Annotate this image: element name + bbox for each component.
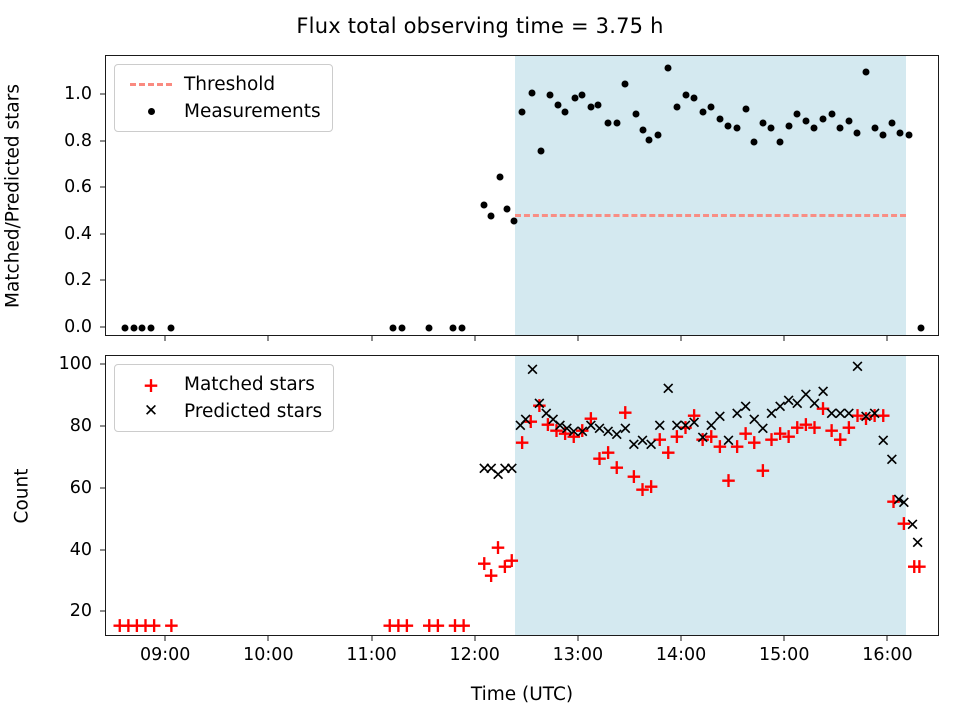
data-point-predicted-star: ✕ [816,385,830,402]
data-point-measurement [888,120,895,127]
data-point-predicted-star: ✕ [505,462,519,479]
data-point-predicted-star: ✕ [653,419,667,436]
data-point-predicted-star: ✕ [850,360,864,377]
legend-label-predicted-stars: Predicted stars [184,401,322,422]
data-point-measurement [802,118,809,125]
x-axis-tick-label: 12:00 [449,645,499,665]
data-point-measurement [682,92,689,99]
data-point-measurement [488,213,495,220]
y-axis-tick-mark [100,140,105,141]
x-axis-tick-label: 16:00 [862,645,912,665]
legend-label-matched-stars: Matched stars [184,374,315,395]
data-point-predicted-star: ✕ [911,536,925,553]
data-point-measurement [519,108,526,115]
data-point-predicted-star: ✕ [897,496,911,513]
x-axis-tick-label: 13:00 [553,645,603,665]
data-point-predicted-star: ✕ [876,434,890,451]
plus-icon: + [124,375,178,395]
legend-item-predicted-stars[interactable]: ✕ Predicted stars [124,398,322,425]
y-axis-tick-mark [100,487,105,488]
data-point-measurement [794,111,801,118]
y-axis-tick-label: 40 [0,540,92,560]
data-point-matched-star: + [146,615,163,635]
data-point-measurement [880,131,887,138]
data-point-measurement [130,324,137,331]
x-axis-tick-label: 10:00 [243,645,293,665]
legend-item-matched-stars[interactable]: + Matched stars [124,371,322,398]
data-point-measurement [665,64,672,71]
x-axis-label: Time (UTC) [471,684,573,705]
data-point-matched-star: + [455,615,472,635]
x-axis-tick-mark [887,636,888,641]
legend-item-measurements[interactable]: Measurements [124,98,321,125]
y-axis-tick-mark [100,326,105,327]
data-point-measurement [562,108,569,115]
data-point-measurement [837,124,844,131]
x-axis-tick-label: 14:00 [656,645,706,665]
data-point-measurement [699,108,706,115]
data-point-measurement [820,115,827,122]
data-point-predicted-star: ✕ [885,452,899,469]
x-axis-tick-mark [268,336,269,341]
x-axis-tick-mark [784,636,785,641]
x-axis-tick-mark [681,636,682,641]
x-axis-tick-mark [165,336,166,341]
data-point-measurement [426,324,433,331]
data-point-measurement [139,324,146,331]
data-point-matched-star: + [429,615,446,635]
count-panel-ylabel: Count [12,469,33,524]
data-point-measurement [828,111,835,118]
data-point-measurement [538,148,545,155]
y-axis-tick-label: 100 [0,354,92,374]
data-point-measurement [458,324,465,331]
x-axis-tick-mark [784,336,785,341]
data-point-measurement [854,129,861,136]
data-point-measurement [481,201,488,208]
x-axis-tick-mark [474,336,475,341]
data-point-measurement [579,92,586,99]
ratio-panel-ylabel: Matched/Predicted stars [3,84,24,308]
data-point-predicted-star: ✕ [661,381,675,398]
data-point-measurement [845,118,852,125]
data-point-predicted-star: ✕ [721,434,735,451]
data-point-measurement [871,124,878,131]
data-point-measurement [622,80,629,87]
data-point-measurement [639,127,646,134]
x-axis-tick-mark [165,636,166,641]
data-point-measurement [768,124,775,131]
x-axis-tick-label: 09:00 [140,645,190,665]
data-point-measurement [708,104,715,111]
dashed-line-icon [124,83,178,86]
data-point-predicted-star: ✕ [713,409,727,426]
data-point-measurement [529,90,536,97]
data-point-matched-star: + [503,550,520,570]
data-point-measurement [777,138,784,145]
data-point-measurement [716,115,723,122]
y-axis-tick-mark [100,549,105,550]
data-point-predicted-star: ✕ [905,517,919,534]
data-point-matched-star: + [399,615,416,635]
observing-window-shading [515,356,905,635]
data-point-predicted-star: ✕ [868,406,882,423]
data-point-predicted-star: ✕ [842,406,856,423]
x-axis-tick-mark [268,636,269,641]
data-point-measurement [510,217,517,224]
data-point-measurement [751,138,758,145]
y-axis-tick-mark [100,280,105,281]
count-panel-axes: ++++++++++++++++++++++++++++++++++++++++… [105,355,939,636]
filled-circle-icon [124,108,178,115]
x-axis-tick-mark [577,336,578,341]
data-point-measurement [555,101,562,108]
data-point-measurement [605,120,612,127]
data-point-predicted-star: ✕ [525,363,539,380]
data-point-measurement [450,324,457,331]
data-point-measurement [594,101,601,108]
legend-label-threshold: Threshold [184,74,275,95]
data-point-measurement [863,69,870,76]
data-point-measurement [759,120,766,127]
ratio-panel-axes: Threshold Measurements [105,55,939,336]
data-point-measurement [691,94,698,101]
data-point-measurement [390,324,397,331]
data-point-measurement [503,206,510,213]
x-axis-tick-mark [371,336,372,341]
ratio-panel-legend[interactable]: Threshold Measurements [114,64,333,132]
data-point-measurement [897,129,904,136]
y-axis-tick-label: 80 [0,416,92,436]
y-axis-tick-mark [100,611,105,612]
data-point-matched-star: + [643,476,660,496]
data-point-measurement [742,106,749,113]
data-point-measurement [673,104,680,111]
data-point-measurement [398,324,405,331]
data-point-measurement [613,120,620,127]
legend-item-threshold[interactable]: Threshold [124,71,321,98]
page-title: Flux total observing time = 3.75 h [0,14,960,38]
data-point-measurement [121,324,128,331]
y-axis-tick-mark [100,233,105,234]
threshold-line [515,214,905,217]
legend-label-measurements: Measurements [184,101,321,122]
x-axis-tick-label: 11:00 [346,645,396,665]
data-point-measurement [906,131,913,138]
x-axis-tick-mark [577,636,578,641]
x-axis-tick-label: 15:00 [759,645,809,665]
y-axis-tick-mark [100,187,105,188]
data-point-matched-star: + [754,460,771,480]
data-point-measurement [646,136,653,143]
data-point-measurement [496,173,503,180]
data-point-predicted-star: ✕ [518,412,532,429]
figure-canvas: Flux total observing time = 3.75 h Thres… [0,0,960,720]
data-point-measurement [725,122,732,129]
y-axis-tick-mark [100,94,105,95]
x-axis-tick-mark [681,336,682,341]
data-point-matched-star: + [720,470,737,490]
data-point-matched-star: + [163,615,180,635]
data-point-predicted-star: ✕ [756,422,770,439]
data-point-measurement [785,122,792,129]
data-point-measurement [734,124,741,131]
count-panel-legend[interactable]: + Matched stars ✕ Predicted stars [114,364,334,432]
data-point-measurement [918,324,925,331]
x-axis-tick-mark [474,636,475,641]
data-point-measurement [546,92,553,99]
x-axis-tick-mark [371,636,372,641]
data-point-matched-star: + [608,457,625,477]
data-point-matched-star: + [911,556,928,576]
data-point-predicted-star: ✕ [644,437,658,454]
y-axis-tick-label: 20 [0,601,92,621]
data-point-measurement [811,124,818,131]
cross-icon: ✕ [124,403,178,420]
data-point-measurement [168,324,175,331]
data-point-measurement [654,131,661,138]
data-point-measurement [147,324,154,331]
x-axis-tick-mark [887,336,888,341]
data-point-measurement [632,111,639,118]
y-axis-tick-mark [100,364,105,365]
data-point-matched-star: + [617,402,634,422]
y-axis-tick-label: 0.0 [0,317,92,337]
y-axis-tick-mark [100,426,105,427]
